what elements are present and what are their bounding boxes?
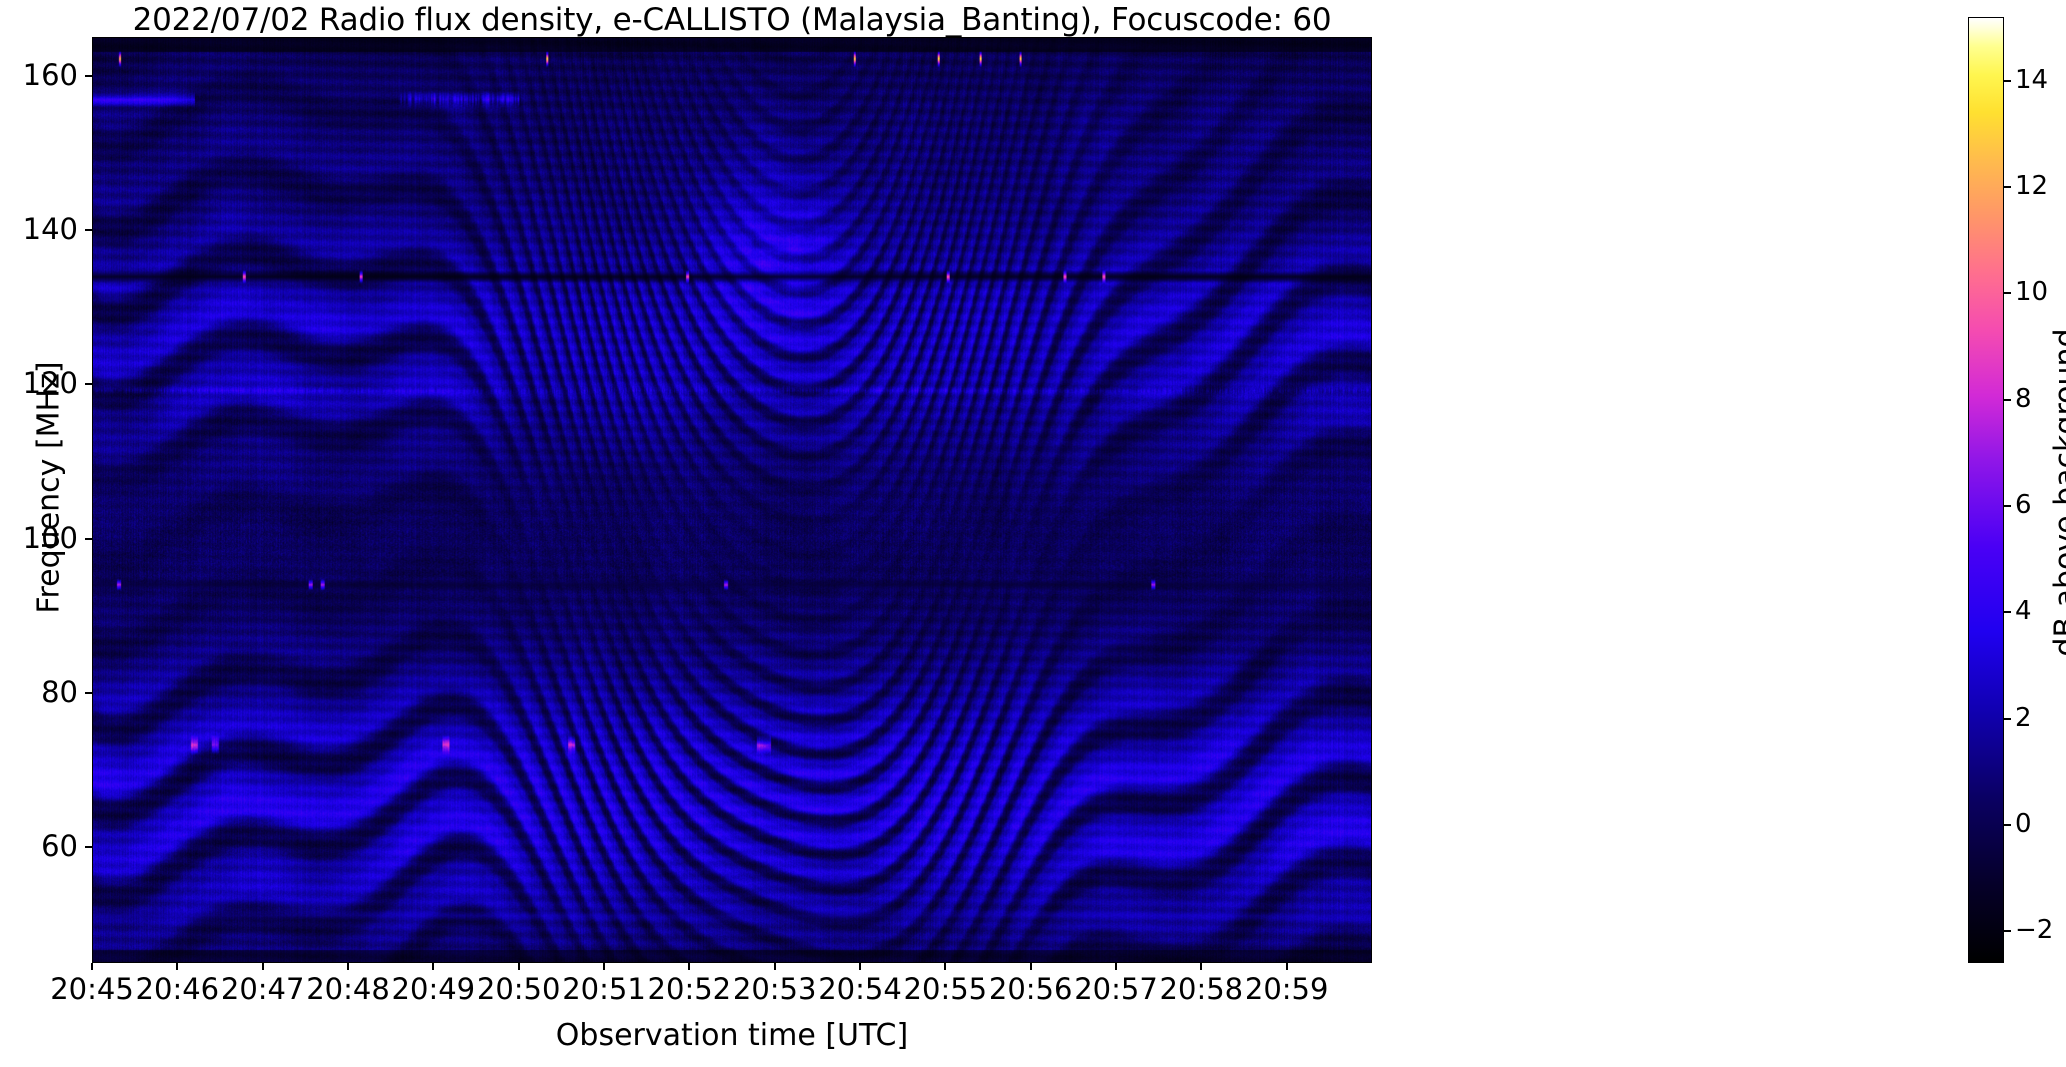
colorbar-tick-label: 0 — [2015, 809, 2032, 839]
y-tick-mark — [85, 692, 92, 694]
colorbar-tick-label: 4 — [2015, 596, 2032, 626]
colorbar-tick-label: 2 — [2015, 703, 2032, 733]
x-tick-mark — [91, 963, 93, 970]
y-tick-mark — [85, 75, 92, 77]
colorbar-tick-label: 6 — [2015, 490, 2032, 520]
x-tick-mark — [1286, 963, 1288, 970]
colorbar-tick-label: 12 — [2015, 171, 2048, 201]
x-tick-label: 20:56 — [989, 972, 1073, 1006]
x-tick-label: 20:45 — [50, 972, 134, 1006]
colorbar-tick-mark — [2004, 611, 2011, 613]
x-tick-mark — [1030, 963, 1032, 970]
x-tick-mark — [774, 963, 776, 970]
y-tick-mark — [85, 383, 92, 385]
y-tick-mark — [85, 538, 92, 540]
y-tick-label: 160 — [0, 58, 78, 92]
x-tick-label: 20:48 — [306, 972, 390, 1006]
colorbar-tick-mark — [2004, 80, 2011, 82]
x-tick-label: 20:52 — [648, 972, 732, 1006]
colorbar-tick-mark — [2004, 292, 2011, 294]
x-tick-mark — [176, 963, 178, 970]
spectrogram-image — [93, 38, 1371, 962]
x-tick-label: 20:46 — [136, 972, 220, 1006]
colorbar — [1968, 17, 2004, 963]
x-tick-label: 20:47 — [221, 972, 305, 1006]
x-tick-mark — [347, 963, 349, 970]
y-tick-label: 60 — [0, 829, 78, 863]
y-tick-label: 140 — [0, 212, 78, 246]
y-axis-label: Frequency [MHz] — [32, 88, 67, 888]
x-tick-mark — [518, 963, 520, 970]
x-tick-label: 20:57 — [1074, 972, 1158, 1006]
x-tick-label: 20:54 — [818, 972, 902, 1006]
x-tick-mark — [1200, 963, 1202, 970]
x-axis-label: Observation time [UTC] — [92, 1018, 1372, 1053]
x-tick-mark — [262, 963, 264, 970]
colorbar-tick-mark — [2004, 186, 2011, 188]
x-tick-mark — [432, 963, 434, 970]
x-tick-mark — [944, 963, 946, 970]
x-tick-mark — [688, 963, 690, 970]
colorbar-tick-mark — [2004, 399, 2011, 401]
spectrogram-plot-area — [92, 37, 1372, 963]
colorbar-label: dB above background — [2049, 183, 2066, 803]
x-tick-label: 20:59 — [1245, 972, 1329, 1006]
y-tick-label: 80 — [0, 675, 78, 709]
x-tick-mark — [1115, 963, 1117, 970]
chart-title: 2022/07/02 Radio flux density, e-CALLIST… — [92, 2, 1372, 38]
colorbar-tick-label: 14 — [2015, 65, 2048, 95]
x-tick-label: 20:58 — [1160, 972, 1244, 1006]
colorbar-tick-label: −2 — [2015, 915, 2053, 945]
colorbar-tick-label: 8 — [2015, 384, 2032, 414]
colorbar-tick-mark — [2004, 505, 2011, 507]
y-tick-label: 100 — [0, 521, 78, 555]
y-tick-label: 120 — [0, 366, 78, 400]
x-tick-label: 20:55 — [904, 972, 988, 1006]
y-tick-mark — [85, 229, 92, 231]
x-tick-label: 20:51 — [562, 972, 646, 1006]
x-tick-label: 20:49 — [392, 972, 476, 1006]
colorbar-tick-mark — [2004, 718, 2011, 720]
x-tick-label: 20:53 — [733, 972, 817, 1006]
colorbar-tick-label: 10 — [2015, 277, 2048, 307]
y-tick-mark — [85, 846, 92, 848]
colorbar-tick-mark — [2004, 824, 2011, 826]
x-tick-mark — [603, 963, 605, 970]
x-tick-mark — [859, 963, 861, 970]
x-tick-label: 20:50 — [477, 972, 561, 1006]
spectrogram-figure: 2022/07/02 Radio flux density, e-CALLIST… — [0, 0, 2066, 1067]
colorbar-tick-mark — [2004, 930, 2011, 932]
